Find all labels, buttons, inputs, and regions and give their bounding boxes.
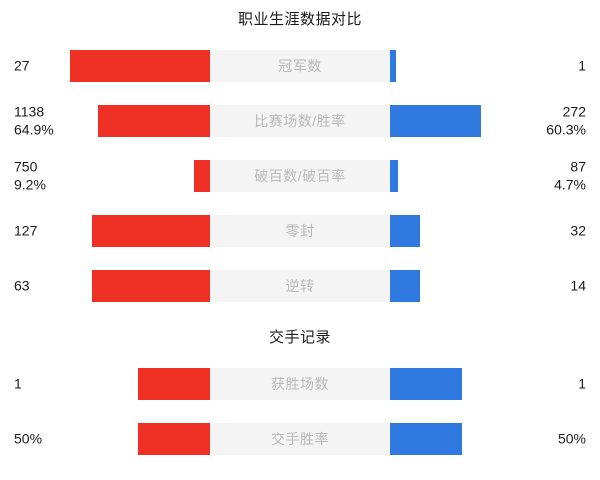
stat-label: 获胜场数 [210,368,390,400]
left-bar [70,50,210,82]
left-bar [92,270,210,302]
stat-track: 获胜场数 [210,368,390,400]
right-bar [390,423,462,455]
left-value-sub: 64.9% [14,121,54,139]
right-bar [390,368,462,400]
left-value-main: 27 [14,57,30,73]
stat-label: 逆转 [210,270,390,302]
right-bar [390,160,398,192]
left-value-main: 50% [14,430,42,446]
head-to-head-section-title: 交手记录 [0,330,600,345]
right-value-sub: 4.7% [554,176,586,194]
right-value: 50% [558,430,586,448]
right-value: 87 4.7% [554,159,586,194]
right-bar [390,215,420,247]
stat-label: 交手胜率 [210,423,390,455]
stat-track: 零封 [210,215,390,247]
career-section-title: 职业生涯数据对比 [0,12,600,27]
stat-row: 750 9.2% 破百数/破百率 87 4.7% [0,160,600,192]
stat-row: 1 获胜场数 1 [0,368,600,400]
left-bar [98,105,210,137]
stat-row: 1138 64.9% 比赛场数/胜率 272 60.3% [0,105,600,137]
left-value: 127 [14,222,37,240]
right-value-main: 87 [570,159,586,175]
right-value: 272 60.3% [546,104,586,139]
stat-label: 冠军数 [210,50,390,82]
stat-row: 27 冠军数 1 [0,50,600,82]
left-value: 1 [14,375,22,393]
left-value-sub: 9.2% [14,176,46,194]
left-value-main: 750 [14,159,37,175]
stat-track: 交手胜率 [210,423,390,455]
stat-row: 50% 交手胜率 50% [0,423,600,455]
left-value-main: 1 [14,375,22,391]
right-value: 32 [570,222,586,240]
right-value-main: 14 [570,277,586,293]
stat-track: 逆转 [210,270,390,302]
stat-track: 冠军数 [210,50,390,82]
left-bar [92,215,210,247]
left-value: 1138 64.9% [14,104,54,139]
stat-label: 零封 [210,215,390,247]
right-bar [390,270,420,302]
left-bar [138,368,210,400]
right-value: 14 [570,277,586,295]
right-bar [390,105,481,137]
comparison-page: 职业生涯数据对比 27 冠军数 1 1138 64.9% 比赛场数/胜率 272… [0,0,600,480]
left-value: 27 [14,57,30,75]
stat-label: 破百数/破百率 [210,160,390,192]
left-bar [194,160,210,192]
left-value: 50% [14,430,42,448]
stat-row: 63 逆转 14 [0,270,600,302]
left-value: 63 [14,277,30,295]
left-value-main: 63 [14,277,30,293]
right-value-main: 1 [578,57,586,73]
stat-track: 破百数/破百率 [210,160,390,192]
right-value-main: 50% [558,430,586,446]
left-value-main: 127 [14,222,37,238]
right-value-main: 1 [578,375,586,391]
right-value: 1 [578,375,586,393]
stat-row: 127 零封 32 [0,215,600,247]
right-value-main: 272 [563,104,586,120]
right-value-sub: 60.3% [546,121,586,139]
right-value: 1 [578,57,586,75]
right-bar [390,50,396,82]
left-bar [138,423,210,455]
left-value: 750 9.2% [14,159,46,194]
right-value-main: 32 [570,222,586,238]
left-value-main: 1138 [14,104,44,120]
stat-label: 比赛场数/胜率 [210,105,390,137]
stat-track: 比赛场数/胜率 [210,105,390,137]
